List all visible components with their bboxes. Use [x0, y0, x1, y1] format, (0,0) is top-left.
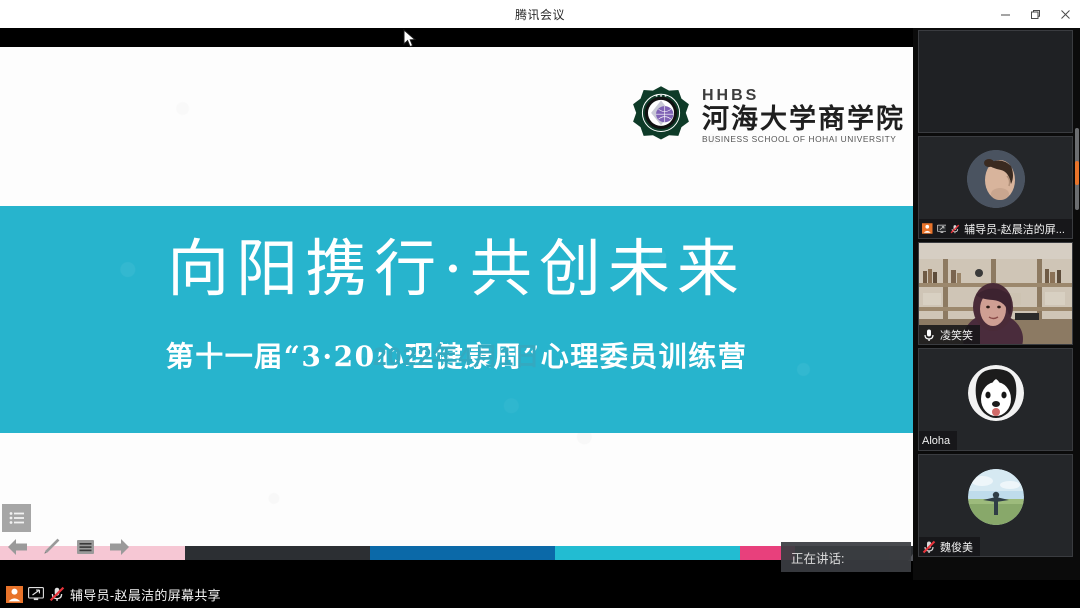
participant-tile[interactable]: 凌笑笑 [918, 242, 1073, 345]
annotate-pen-button[interactable] [40, 536, 62, 558]
logo-name-english: BUSINESS SCHOOL OF HOHAI UNIVERSITY [702, 135, 905, 143]
avatar [968, 365, 1024, 421]
minimize-button[interactable] [990, 0, 1020, 28]
avatar-dog-icon [968, 365, 1024, 421]
restore-button[interactable] [1020, 0, 1050, 28]
tencent-meeting-window: 腾讯会议 [0, 0, 1080, 608]
mic-active-icon [922, 328, 936, 342]
mouse-cursor-icon [403, 29, 417, 49]
user-orange-icon [922, 221, 933, 236]
speaking-indicator: 正在讲话: [781, 542, 911, 572]
screen-share-icon [937, 223, 947, 235]
participant-badge: 辅导员-赵晨洁的屏... [919, 219, 1072, 238]
window-controls [990, 0, 1080, 28]
screen-share-icon[interactable] [28, 587, 44, 601]
speaking-label: 正在讲话: [791, 548, 844, 567]
minimize-icon [1000, 9, 1011, 20]
mic-muted-icon[interactable] [49, 586, 65, 602]
arrow-left-icon [7, 538, 28, 556]
participant-tile[interactable]: Aloha [918, 348, 1073, 451]
participant-rail[interactable]: 辅导员-赵晨洁的屏... [913, 28, 1080, 580]
letterbox-top [0, 28, 913, 47]
logo-name-chinese: 河海大学商学院 [702, 105, 905, 134]
mic-muted-icon [922, 540, 936, 554]
window-title: 腾讯会议 [515, 6, 565, 23]
annotation-toolbar[interactable] [6, 536, 130, 558]
logo-text-block: HHBS 河海大学商学院 BUSINESS SCHOOL OF HOHAI UN… [702, 88, 905, 144]
avatar-person-icon [967, 150, 1025, 208]
participant-badge: Aloha [919, 431, 957, 450]
avatar-sky-icon [968, 469, 1024, 525]
presentation-slide: ★ ★ ★ HHBS 河海大学商学院 BUSINESS SCHOOL OF HO… [0, 47, 913, 560]
school-logo: ★ ★ ★ HHBS 河海大学商学院 BUSINESS SCHOOL OF HO… [630, 85, 905, 147]
title-bar: 腾讯会议 [0, 0, 1080, 28]
taskbar-share-label: 辅导员-赵晨洁的屏幕共享 [70, 585, 221, 604]
mic-muted-icon [950, 222, 960, 236]
screen-share-taskbar[interactable]: 辅导员-赵晨洁的屏幕共享 [0, 580, 1080, 608]
color-bar-segment-3 [555, 546, 740, 560]
slide-title-band: 向阳携行·共创未来 第十一届“3·20心理健康周”心理委员训练营 [0, 206, 913, 433]
slide-main-title: 向阳携行·共创未来 [0, 238, 913, 300]
next-slide-button[interactable] [108, 536, 130, 558]
color-bar-segment-2 [370, 546, 555, 560]
close-button[interactable] [1050, 0, 1080, 28]
avatar [967, 150, 1025, 208]
participant-badge: 魏俊美 [919, 537, 980, 556]
arrow-right-icon [109, 538, 130, 556]
participant-name: 凌笑笑 [940, 327, 973, 343]
svg-text:★ ★ ★: ★ ★ ★ [655, 94, 668, 98]
previous-slide-button[interactable] [6, 536, 28, 558]
shared-screen-stage[interactable]: ★ ★ ★ HHBS 河海大学商学院 BUSINESS SCHOOL OF HO… [0, 28, 913, 580]
participant-tile[interactable]: 魏俊美 [918, 454, 1073, 557]
logo-abbreviation: HHBS [702, 88, 905, 104]
participant-tile[interactable]: 辅导员-赵晨洁的屏... [918, 136, 1073, 239]
avatar [968, 469, 1024, 525]
user-orange-icon [6, 586, 23, 603]
slide-date: 2022年4月1日 [0, 337, 913, 373]
slide-list-button[interactable] [74, 536, 96, 558]
list-icon [76, 539, 95, 555]
close-icon [1060, 9, 1071, 20]
participant-name: 辅导员-赵晨洁的屏... [964, 221, 1065, 237]
color-bar-segment-1 [185, 546, 370, 560]
slide-thumbnail-toggle[interactable] [2, 504, 31, 532]
participant-name: 魏俊美 [940, 539, 973, 555]
participant-tile[interactable] [918, 30, 1073, 133]
participant-name: Aloha [922, 435, 950, 447]
rail-scrollbar-thumb[interactable] [1075, 161, 1079, 185]
hohai-emblem-icon: ★ ★ ★ [630, 85, 692, 147]
restore-icon [1030, 9, 1041, 20]
list-icon [9, 511, 25, 525]
participant-badge: 凌笑笑 [919, 325, 980, 344]
pencil-icon [41, 537, 61, 557]
slide-color-bar [0, 546, 913, 560]
